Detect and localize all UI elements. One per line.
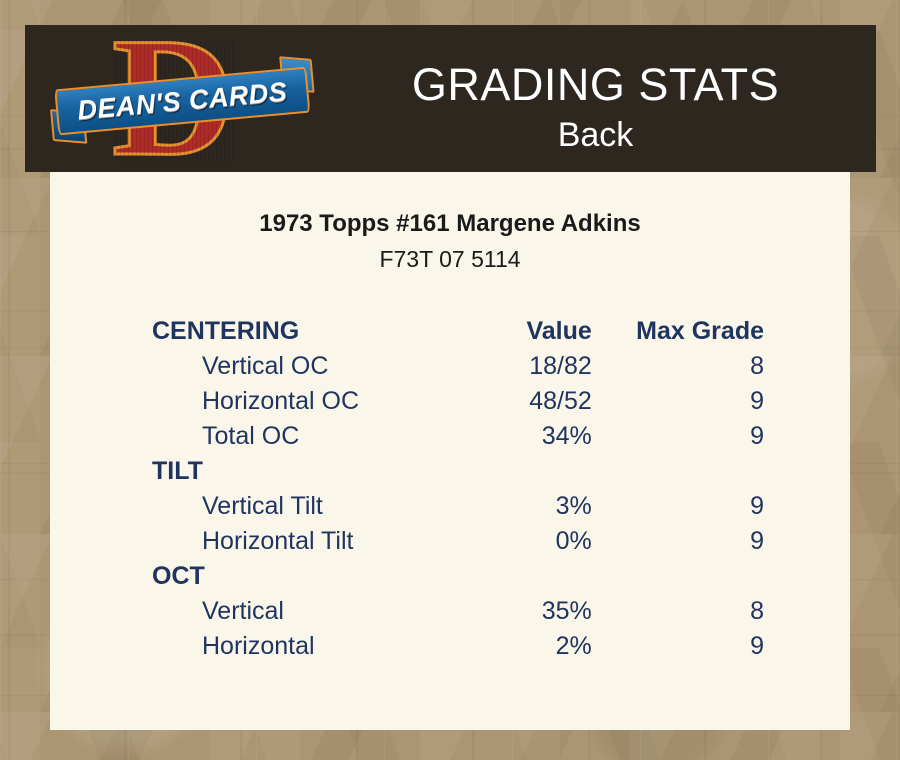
stats-row-label: Vertical OC: [152, 349, 473, 384]
stats-section-row: CENTERINGValueMax Grade: [152, 314, 812, 349]
logo-ribbon: DEAN'S CARDS: [48, 62, 317, 144]
deans-cards-logo[interactable]: D DEAN'S CARDS: [50, 27, 315, 172]
stats-row-value: [473, 454, 609, 489]
stats-data-row: Horizontal OC48/529: [152, 384, 812, 419]
stats-row-label: Vertical Tilt: [152, 489, 473, 524]
stats-row-grade: 8: [610, 594, 812, 629]
stats-row-grade: [610, 454, 812, 489]
stats-row-label: Horizontal OC: [152, 384, 473, 419]
stats-section-row: TILT: [152, 454, 812, 489]
stats-data-row: Horizontal Tilt0%9: [152, 524, 812, 559]
stats-row-label: Horizontal Tilt: [152, 524, 473, 559]
stats-row-value: 35%: [473, 594, 609, 629]
stats-row-label: Horizontal: [152, 629, 473, 664]
stats-row-value: 3%: [473, 489, 609, 524]
grading-stats-page: D DEAN'S CARDS GRADING STATS Back 1973 T…: [0, 0, 900, 760]
stats-row-value: 48/52: [473, 384, 609, 419]
stats-row-grade: 8: [610, 349, 812, 384]
card-code: F73T 07 5114: [50, 246, 850, 273]
stats-row-grade: 9: [610, 489, 812, 524]
stats-row-value: 0%: [473, 524, 609, 559]
stats-row-value: 18/82: [473, 349, 609, 384]
header-bar: D DEAN'S CARDS GRADING STATS Back: [25, 25, 876, 172]
grading-stats-table: CENTERINGValueMax GradeVertical OC18/828…: [152, 314, 812, 664]
stats-row-grade: 9: [610, 629, 812, 664]
stats-section-label: OCT: [152, 559, 473, 594]
stats-data-row: Vertical OC18/828: [152, 349, 812, 384]
stats-row-grade: 9: [610, 419, 812, 454]
logo-wordmark: DEAN'S CARDS: [54, 67, 310, 136]
grading-stats-body: CENTERINGValueMax GradeVertical OC18/828…: [152, 314, 812, 664]
stats-row-label: Vertical: [152, 594, 473, 629]
content-panel: 1973 Topps #161 Margene Adkins F73T 07 5…: [50, 172, 850, 730]
stats-row-grade: [610, 559, 812, 594]
stats-section-label: CENTERING: [152, 314, 473, 349]
stats-column-header-value: Value: [473, 314, 609, 349]
stats-row-grade: 9: [610, 524, 812, 559]
stats-row-value: [473, 559, 609, 594]
stats-row-value: 2%: [473, 629, 609, 664]
page-subtitle: Back: [315, 115, 876, 155]
stats-row-value: 34%: [473, 419, 609, 454]
stats-data-row: Vertical Tilt3%9: [152, 489, 812, 524]
card-title: 1973 Topps #161 Margene Adkins: [50, 210, 850, 238]
stats-row-grade: 9: [610, 384, 812, 419]
stats-row-label: Total OC: [152, 419, 473, 454]
stats-data-row: Vertical35%8: [152, 594, 812, 629]
stats-column-header-grade: Max Grade: [610, 314, 812, 349]
page-title: GRADING STATS: [315, 59, 876, 111]
stats-section-row: OCT: [152, 559, 812, 594]
stats-section-label: TILT: [152, 454, 473, 489]
stats-data-row: Total OC34%9: [152, 419, 812, 454]
stats-data-row: Horizontal2%9: [152, 629, 812, 664]
